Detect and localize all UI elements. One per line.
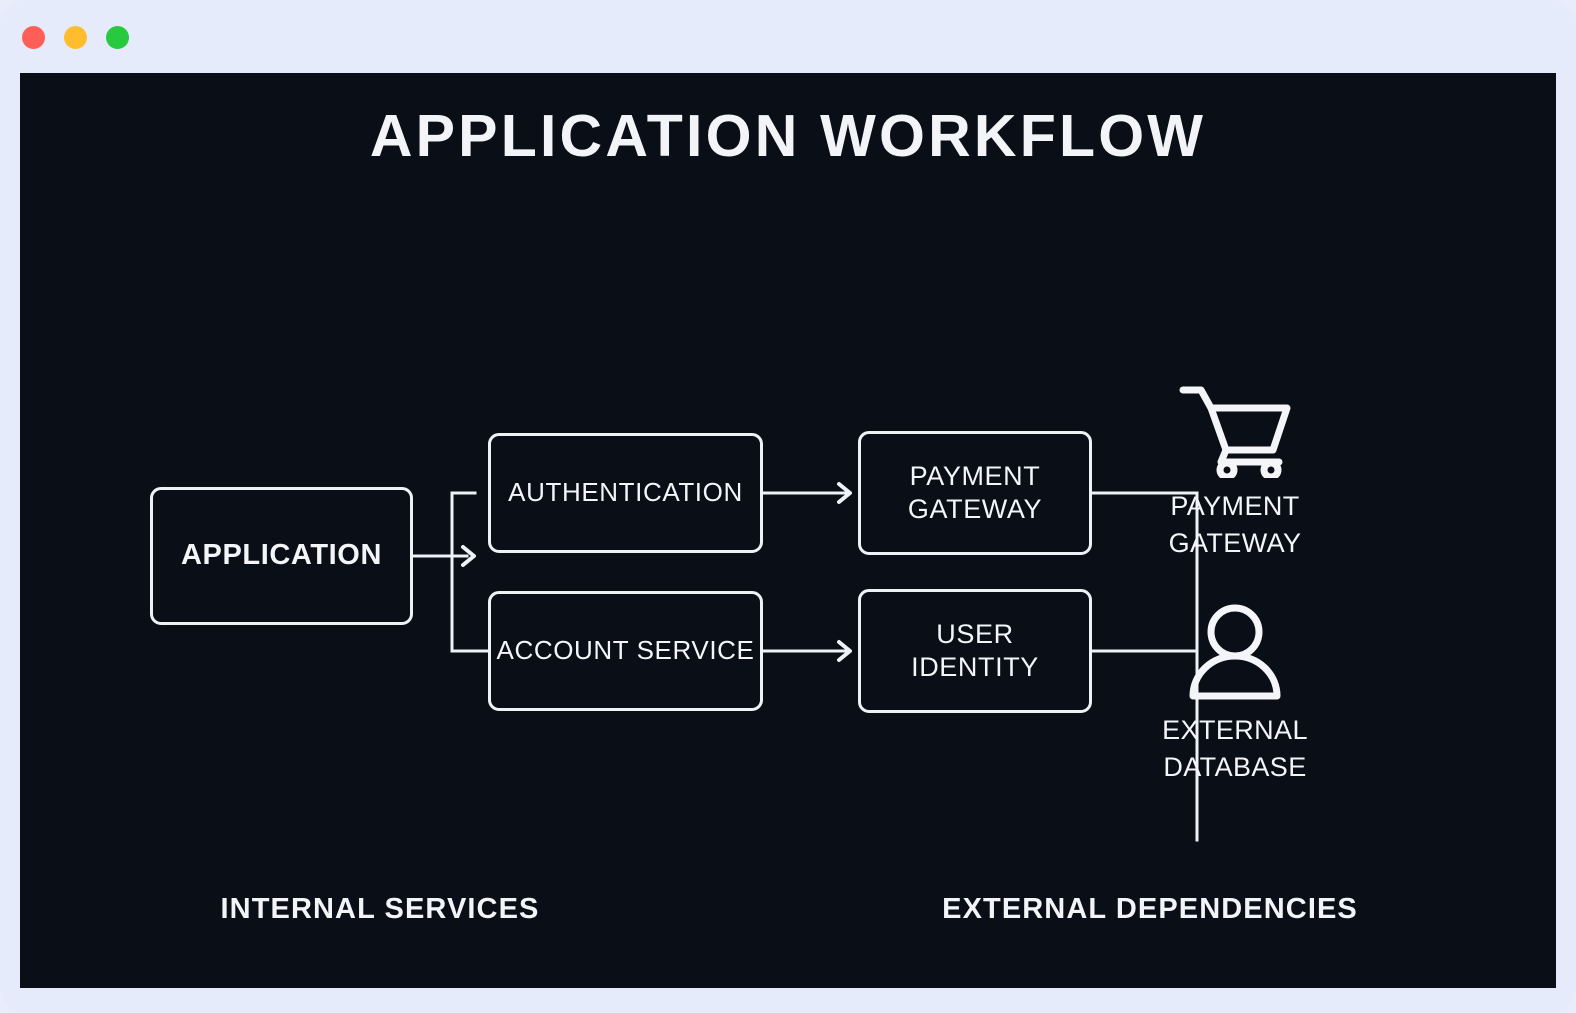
maximize-window-button[interactable] bbox=[106, 26, 129, 49]
external-payment-gateway-label: PAYMENT GATEWAY bbox=[1115, 488, 1355, 563]
node-account-service-label: ACCOUNT SERVICE bbox=[497, 635, 755, 667]
caption-external-dependencies: EXTERNAL DEPENDENCIES bbox=[850, 893, 1450, 926]
external-database-label: EXTERNAL DATABASE bbox=[1115, 712, 1355, 787]
external-database: EXTERNAL DATABASE bbox=[1115, 605, 1355, 787]
shopping-cart-icon bbox=[1115, 381, 1355, 477]
arrowhead-application bbox=[463, 547, 474, 565]
node-application[interactable]: APPLICATION bbox=[150, 487, 413, 625]
node-application-label: APPLICATION bbox=[181, 538, 382, 573]
external-payment-gateway: PAYMENT GATEWAY bbox=[1115, 381, 1355, 563]
node-authentication[interactable]: AUTHENTICATION bbox=[488, 433, 763, 553]
window-titlebar bbox=[0, 0, 1576, 73]
node-authentication-label: AUTHENTICATION bbox=[508, 477, 743, 509]
minimize-window-button[interactable] bbox=[64, 26, 87, 49]
diagram-canvas: APPLICATION WORKFLOW bbox=[20, 73, 1556, 988]
node-payment-gateway-label: PAYMENT GATEWAY bbox=[908, 460, 1042, 526]
arrowhead-account-service bbox=[839, 642, 850, 660]
node-account-service[interactable]: ACCOUNT SERVICE bbox=[488, 591, 763, 711]
app-window: APPLICATION WORKFLOW bbox=[0, 0, 1576, 1013]
node-user-identity-label: USER IDENTITY bbox=[911, 618, 1039, 684]
node-payment-gateway[interactable]: PAYMENT GATEWAY bbox=[858, 431, 1092, 555]
caption-internal-services: INTERNAL SERVICES bbox=[190, 893, 570, 926]
close-window-button[interactable] bbox=[22, 26, 45, 49]
node-user-identity[interactable]: USER IDENTITY bbox=[858, 589, 1092, 713]
window-controls bbox=[22, 26, 129, 49]
user-person-icon bbox=[1115, 605, 1355, 701]
arrowhead-authentication bbox=[839, 484, 850, 502]
page-title: APPLICATION WORKFLOW bbox=[20, 107, 1556, 166]
